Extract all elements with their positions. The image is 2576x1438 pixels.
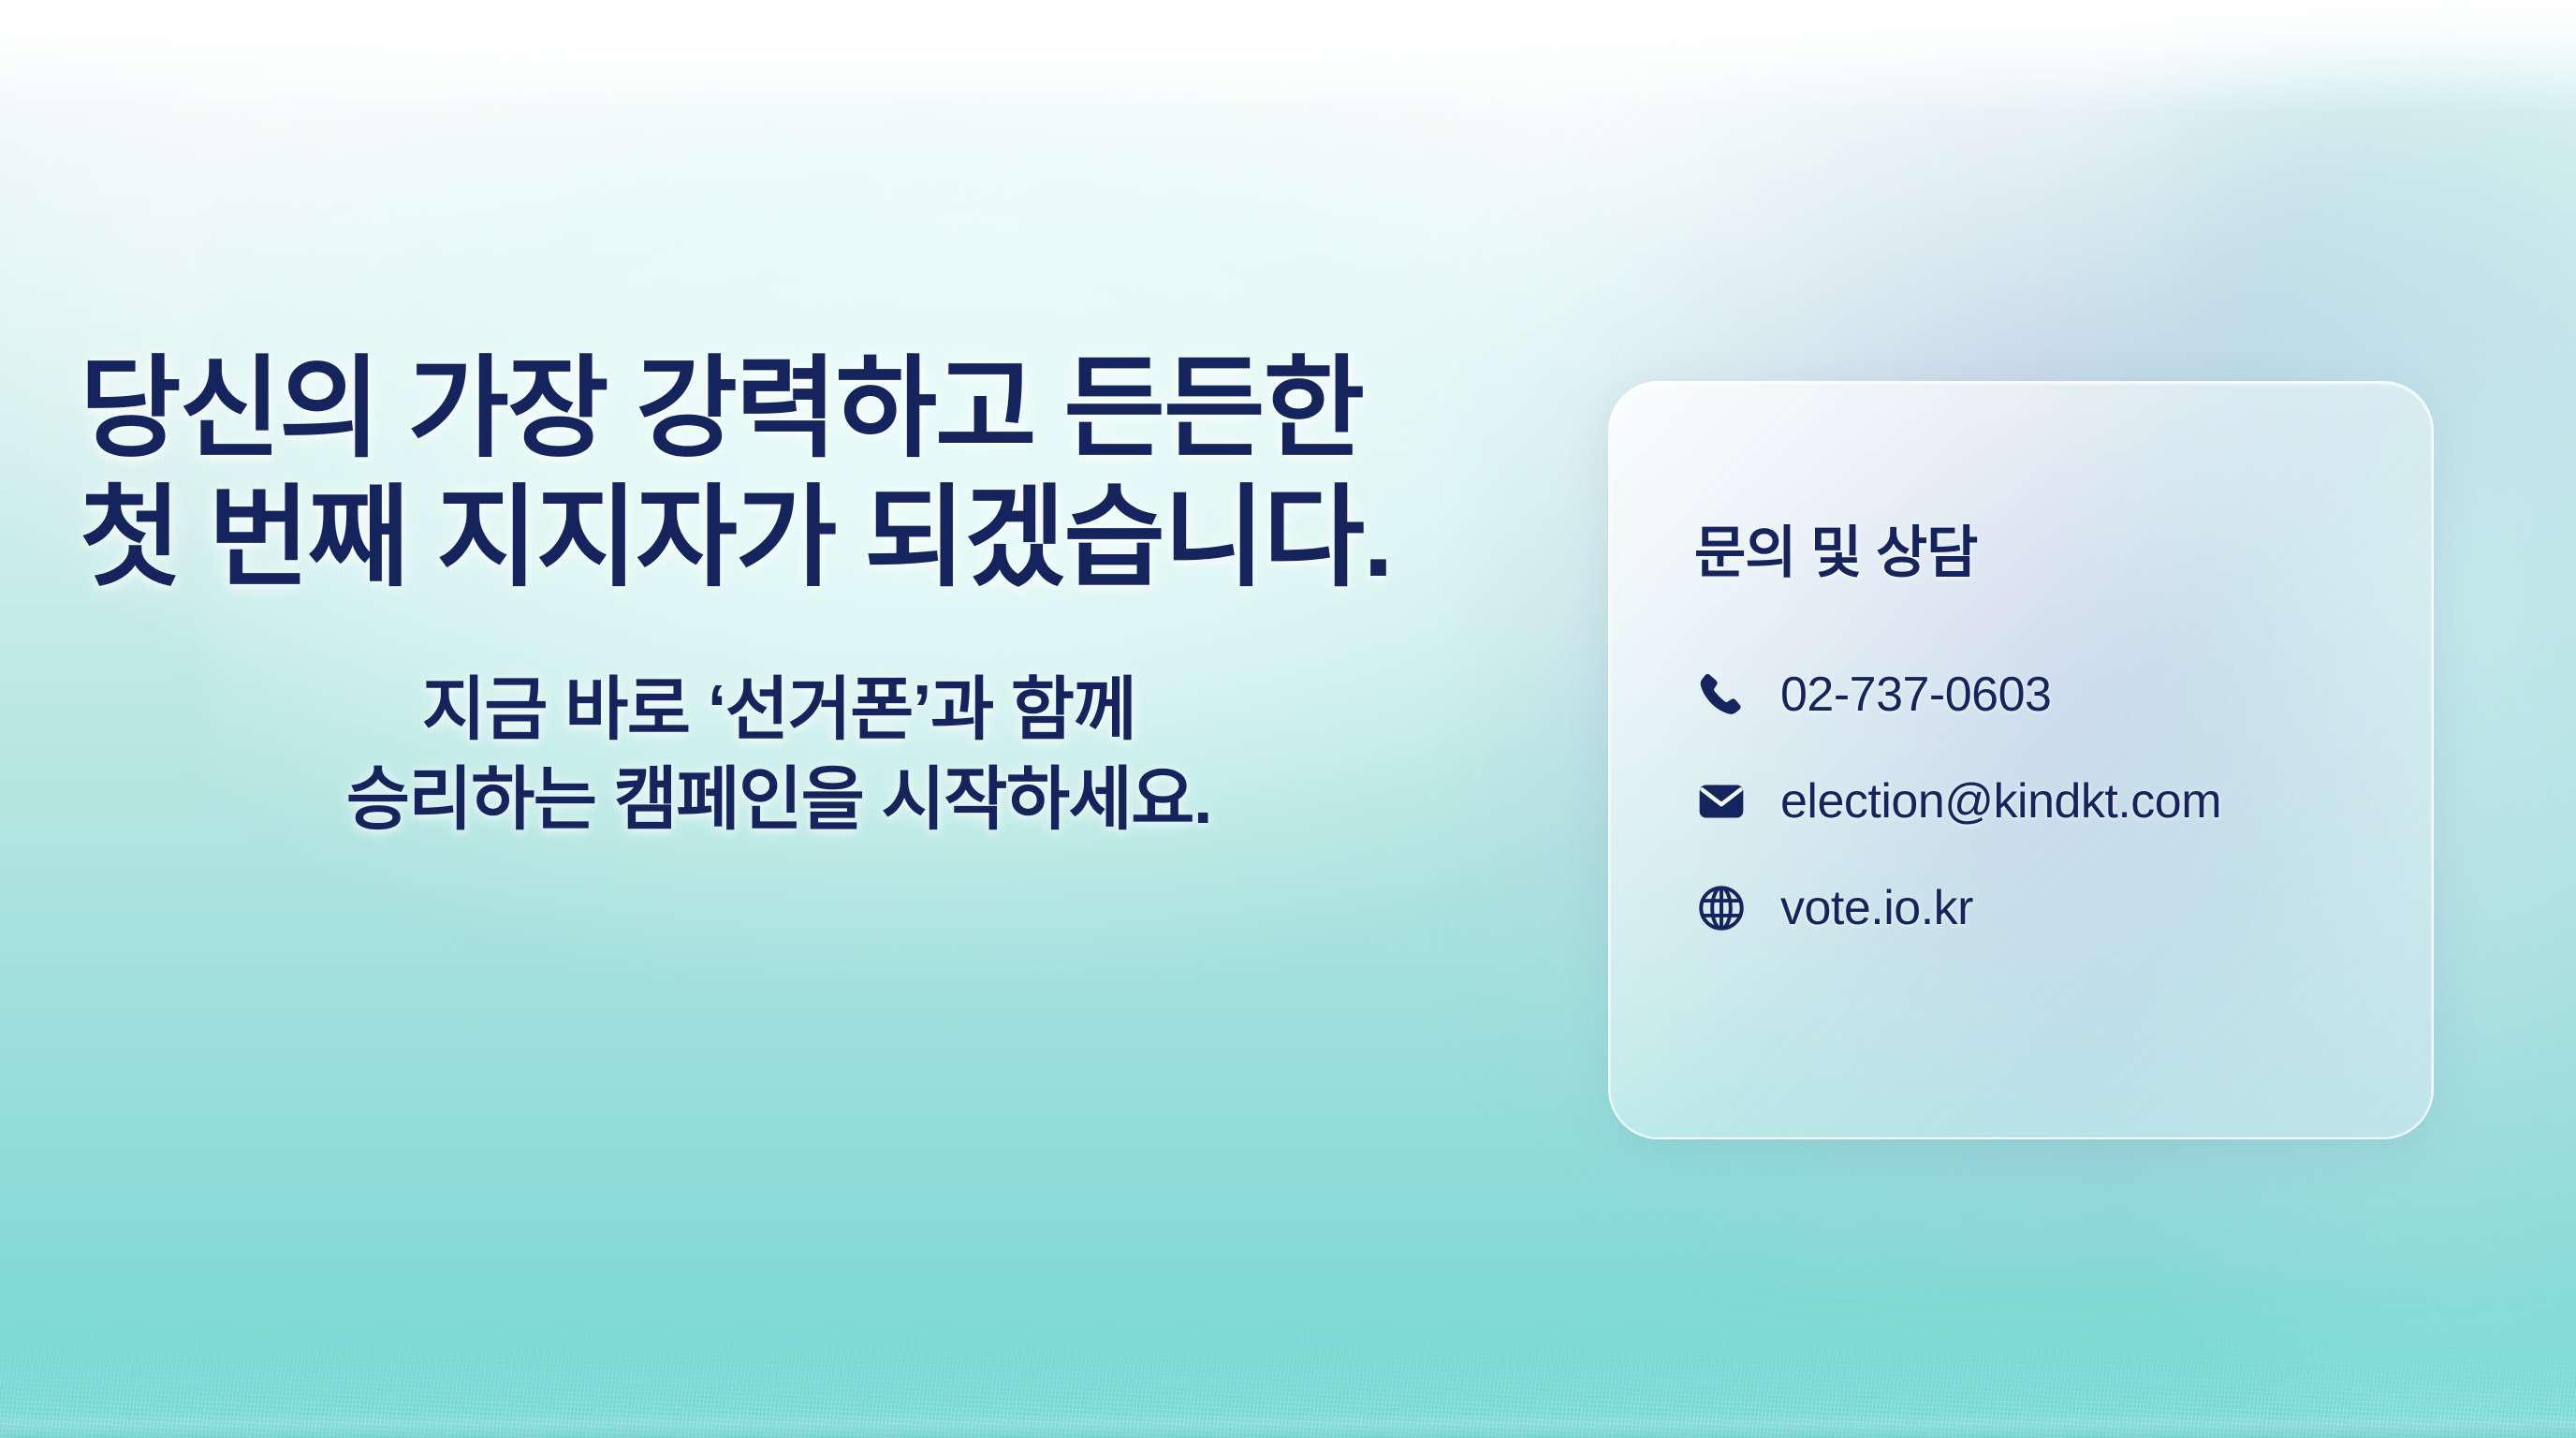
contact-row-email[interactable]: election@kindkt.com <box>1694 765 2394 838</box>
contact-website-value: vote.io.kr <box>1780 884 1973 932</box>
contact-email-value: election@kindkt.com <box>1780 777 2221 826</box>
headline: 당신의 가장 강력하고 든든한 첫 번째 지지자가 되겠습니다. <box>80 345 1540 603</box>
contact-row-phone[interactable]: 02-737-0603 <box>1694 658 2394 731</box>
contact-card: 문의 및 상담 02-737-0603 <box>1608 381 2434 1139</box>
headline-line-2: 첫 번째 지지자가 되겠습니다. <box>80 474 1540 603</box>
globe-icon <box>1694 881 1749 935</box>
subheadline: 지금 바로 ‘선거폰’과 함께 승리하는 캠페인을 시작하세요. <box>119 665 1439 844</box>
promo-banner: 당신의 가장 강력하고 든든한 첫 번째 지지자가 되겠습니다. 지금 바로 ‘… <box>0 0 2576 1438</box>
contact-phone-value: 02-737-0603 <box>1780 670 2051 719</box>
contact-row-website[interactable]: vote.io.kr <box>1694 872 2394 945</box>
background-top-edge-fade <box>0 0 2576 112</box>
envelope-icon <box>1694 774 1749 829</box>
background-bottom-edge-fade <box>0 1414 2576 1438</box>
copy-block: 당신의 가장 강력하고 든든한 첫 번째 지지자가 되겠습니다. 지금 바로 ‘… <box>80 345 1540 844</box>
headline-line-1: 당신의 가장 강력하고 든든한 <box>80 345 1540 474</box>
contact-list: 02-737-0603 election@kindkt.com <box>1694 658 2394 945</box>
contact-card-inner: 문의 및 상담 02-737-0603 <box>1694 520 2394 945</box>
phone-icon <box>1694 668 1749 722</box>
contact-card-title: 문의 및 상담 <box>1694 520 2394 587</box>
subheadline-line-1: 지금 바로 ‘선거폰’과 함께 <box>119 665 1439 755</box>
subheadline-line-2: 승리하는 캠페인을 시작하세요. <box>119 755 1439 844</box>
